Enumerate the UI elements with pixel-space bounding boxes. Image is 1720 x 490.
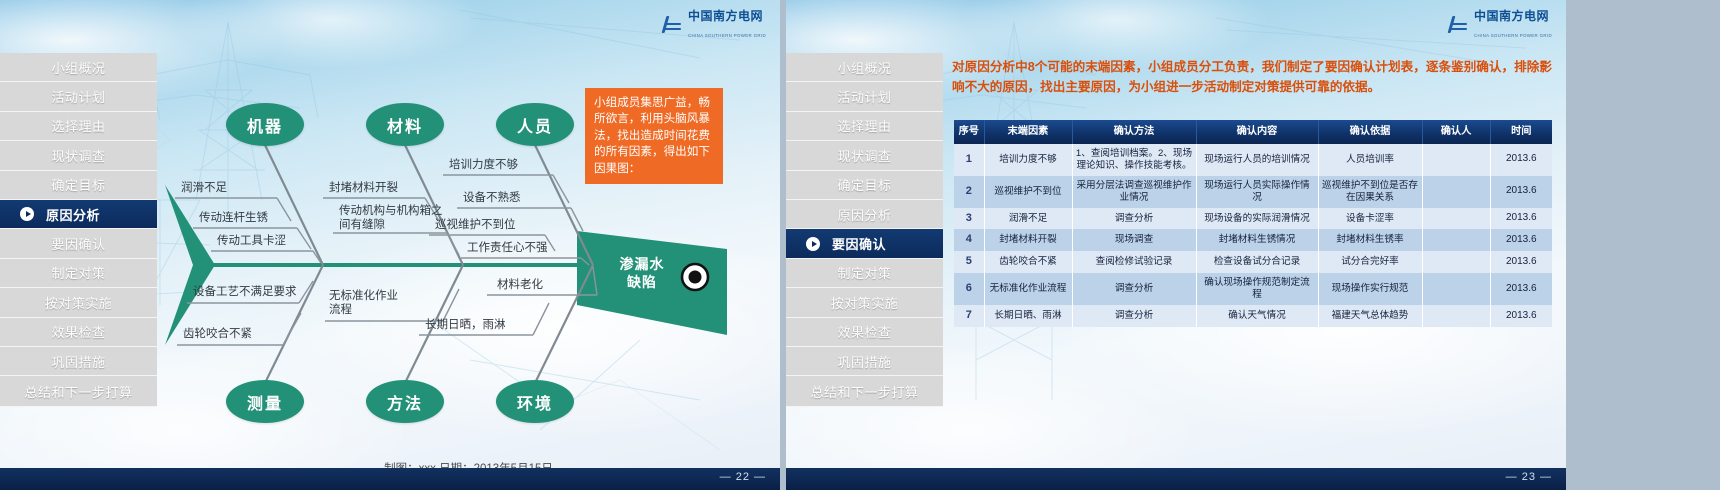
brainstorm-callout: 小组成员集思广益，畅所欲言，利用头脑风暴法，找出造成时间花费的所有因素，得出如下…	[585, 88, 723, 184]
table-cell-2-3: 现场设备的实际润滑情况	[1196, 208, 1318, 230]
logo-name-cn: 中国南方电网	[688, 9, 763, 23]
sidebar-item-2[interactable]: 选择理由	[0, 112, 157, 141]
table-cell-0-5	[1422, 144, 1490, 176]
sidebar-item-0[interactable]: 小组概况	[0, 53, 157, 82]
cause-rod-rust: 传动连杆生锈	[199, 211, 268, 225]
table-cell-5-0: 6	[954, 273, 984, 305]
play-bullet-icon	[806, 237, 820, 251]
sidebar-item-label: 原因分析	[46, 205, 100, 224]
table-cell-3-2: 现场调查	[1072, 229, 1196, 251]
table-cell-6-0: 7	[954, 305, 984, 327]
page-number: — 22 —	[720, 471, 766, 483]
logo-name-en: CHINA SOUTHERN POWER GRID	[1474, 33, 1552, 38]
table-cell-1-0: 2	[954, 176, 984, 208]
sidebar-item-8[interactable]: 按对策实施	[786, 288, 943, 317]
sidebar-item-label: 确定目标	[51, 175, 105, 194]
factor-confirmation-table: 序号末端因素确认方法确认内容确认依据确认人时间 1培训力度不够1、查阅培训档案。…	[954, 120, 1552, 327]
cause-unfamiliar-equipment: 设备不熟悉	[463, 191, 521, 205]
table-cell-1-3: 现场运行人员实际操作情况	[1196, 176, 1318, 208]
sidebar-item-6[interactable]: 要因确认	[786, 229, 943, 258]
table-cell-0-0: 1	[954, 144, 984, 176]
sidebar-item-8[interactable]: 按对策实施	[0, 288, 157, 317]
sidebar-left[interactable]: 小组概况活动计划选择理由现状调查确定目标原因分析要因确认制定对策按对策实施效果检…	[0, 53, 157, 407]
table-cell-2-1: 润滑不足	[984, 208, 1072, 230]
sidebar-item-10[interactable]: 巩固措施	[786, 347, 943, 376]
sidebar-item-label: 活动计划	[51, 87, 105, 106]
table-cell-0-1: 培训力度不够	[984, 144, 1072, 176]
table-header-cell-5: 确认人	[1422, 120, 1490, 144]
sidebar-item-label: 要因确认	[832, 234, 886, 253]
sidebar-item-6[interactable]: 要因确认	[0, 229, 157, 258]
table-row: 4封堵材料开裂现场调查封堵材料生锈情况封堵材料生锈率2013.6	[954, 229, 1552, 251]
sidebar-item-7[interactable]: 制定对策	[0, 259, 157, 288]
table-cell-4-2: 查阅检修试验记录	[1072, 251, 1196, 273]
table-cell-6-5	[1422, 305, 1490, 327]
sidebar-item-3[interactable]: 现状调查	[786, 141, 943, 170]
table-cell-0-3: 现场运行人员的培训情况	[1196, 144, 1318, 176]
sidebar-item-label: 效果检查	[51, 322, 105, 341]
cause-gear-mesh: 齿轮咬合不紧	[183, 327, 252, 341]
sidebar-item-label: 选择理由	[51, 116, 105, 135]
sidebar-item-label: 总结和下一步打算	[810, 382, 918, 401]
table-cell-2-2: 调查分析	[1072, 208, 1196, 230]
grid-logo-icon	[665, 16, 683, 34]
table-cell-5-6: 2013.6	[1490, 273, 1552, 305]
sidebar-item-label: 总结和下一步打算	[24, 382, 132, 401]
sidebar-item-label: 巩固措施	[837, 352, 891, 371]
table-cell-1-4: 巡视维护不到位是否存在因果关系	[1318, 176, 1422, 208]
sidebar-right[interactable]: 小组概况活动计划选择理由现状调查确定目标原因分析要因确认制定对策按对策实施效果检…	[786, 53, 943, 407]
sidebar-item-11[interactable]: 总结和下一步打算	[0, 376, 157, 407]
table-cell-6-1: 长期日晒、雨淋	[984, 305, 1072, 327]
table-cell-2-4: 设备卡涩率	[1318, 208, 1422, 230]
sidebar-item-9[interactable]: 效果检查	[0, 318, 157, 347]
table-header-cell-1: 末端因素	[984, 120, 1072, 144]
sidebar-item-4[interactable]: 确定目标	[786, 171, 943, 200]
table-cell-2-6: 2013.6	[1490, 208, 1552, 230]
logo-name-cn: 中国南方电网	[1474, 9, 1549, 23]
table-cell-4-6: 2013.6	[1490, 251, 1552, 273]
table-cell-5-1: 无标准化作业流程	[984, 273, 1072, 305]
cause-tool-jam: 传动工具卡涩	[217, 234, 286, 248]
table-cell-2-0: 3	[954, 208, 984, 230]
logo-southern-power-grid: 中国南方电网 CHINA SOUTHERN POWER GRID	[1451, 8, 1552, 42]
fishbone-node-environment: 环境	[496, 380, 574, 423]
table-cell-1-5	[1422, 176, 1490, 208]
slide-footer-right: — 23 —	[786, 468, 1566, 490]
slide-factor-confirmation: 小组概况活动计划选择理由现状调查确定目标原因分析要因确认制定对策按对策实施效果检…	[786, 0, 1566, 490]
sidebar-item-label: 按对策实施	[45, 293, 113, 312]
fishbone-diagram: 机器 材料 人员 测量 方法 环境 润滑不足 传动连杆生锈 传动工具卡涩 封堵材…	[157, 53, 780, 468]
sidebar-item-1[interactable]: 活动计划	[0, 82, 157, 111]
table-cell-4-0: 5	[954, 251, 984, 273]
table-cell-0-6: 2013.6	[1490, 144, 1552, 176]
fishbone-node-material: 材料	[366, 103, 444, 146]
fishbone-node-method: 方法	[366, 380, 444, 423]
table-cell-3-3: 封堵材料生锈情况	[1196, 229, 1318, 251]
table-cell-1-6: 2013.6	[1490, 176, 1552, 208]
table-row: 1培训力度不够1、查阅培训档案。2、现场理论知识、操作技能考核。现场运行人员的培…	[954, 144, 1552, 176]
table-cell-4-1: 齿轮咬合不紧	[984, 251, 1072, 273]
table-cell-1-1: 巡视维护不到位	[984, 176, 1072, 208]
table-cell-5-3: 确认现场操作规范制定流程	[1196, 273, 1318, 305]
cause-lubrication: 润滑不足	[181, 181, 227, 195]
table-cell-6-4: 福建天气总体趋势	[1318, 305, 1422, 327]
sidebar-item-7[interactable]: 制定对策	[786, 259, 943, 288]
table-cell-3-1: 封堵材料开裂	[984, 229, 1072, 251]
slide-headline: 对原因分析中8个可能的末端因素，小组成员分工负责，我们制定了要因确认计划表，逐条…	[952, 57, 1552, 97]
sidebar-item-label: 活动计划	[837, 87, 891, 106]
table-cell-5-4: 现场操作实行规范	[1318, 273, 1422, 305]
table-cell-0-4: 人员培训率	[1318, 144, 1422, 176]
fishbone-node-personnel: 人员	[496, 103, 574, 146]
sidebar-item-label: 制定对策	[51, 263, 105, 282]
table-header-cell-0: 序号	[954, 120, 984, 144]
table-cell-6-3: 确认天气情况	[1196, 305, 1318, 327]
sidebar-item-label: 小组概况	[837, 58, 891, 77]
sidebar-item-label: 原因分析	[837, 205, 891, 224]
slide-footer-left: — 22 —	[0, 468, 780, 490]
table-cell-6-6: 2013.6	[1490, 305, 1552, 327]
sidebar-item-4[interactable]: 确定目标	[0, 171, 157, 200]
play-bullet-icon	[20, 207, 34, 221]
table-row: 3润滑不足调查分析现场设备的实际润滑情况设备卡涩率2013.6	[954, 208, 1552, 230]
table-cell-3-6: 2013.6	[1490, 229, 1552, 251]
sidebar-item-label: 现状调查	[837, 146, 891, 165]
fishbone-node-measure: 测量	[226, 380, 304, 423]
logo-name-en: CHINA SOUTHERN POWER GRID	[688, 33, 766, 38]
sidebar-item-label: 小组概况	[51, 58, 105, 77]
table-cell-1-2: 采用分层法调查巡视维护作业情况	[1072, 176, 1196, 208]
cause-process-requirement: 设备工艺不满足要求	[193, 285, 297, 299]
page-number: — 23 —	[1506, 471, 1552, 483]
cause-mechanism-gap: 传动机构与机构箱之间有缝隙	[339, 204, 443, 233]
table-header-cell-2: 确认方法	[1072, 120, 1196, 144]
cause-material-aging: 材料老化	[497, 278, 543, 292]
cause-sun-rain: 长期日晒，雨淋	[425, 318, 506, 332]
table-cell-3-5	[1422, 229, 1490, 251]
slide-cause-analysis: 小组概况活动计划选择理由现状调查确定目标原因分析要因确认制定对策按对策实施效果检…	[0, 0, 780, 490]
table-cell-2-5	[1422, 208, 1490, 230]
table-cell-3-0: 4	[954, 229, 984, 251]
table-header-cell-6: 时间	[1490, 120, 1552, 144]
sidebar-item-3[interactable]: 现状调查	[0, 141, 157, 170]
table-cell-4-3: 检查设备试分合记录	[1196, 251, 1318, 273]
sidebar-item-label: 制定对策	[837, 263, 891, 282]
sidebar-item-label: 现状调查	[51, 146, 105, 165]
table-header-cell-4: 确认依据	[1318, 120, 1422, 144]
table-cell-4-4: 试分合完好率	[1318, 251, 1422, 273]
table-cell-6-2: 调查分析	[1072, 305, 1196, 327]
cause-no-standard-process: 无标准化作业流程	[329, 289, 401, 318]
effect-line-2: 缺陷	[627, 274, 657, 290]
sidebar-item-1[interactable]: 活动计划	[786, 82, 943, 111]
sidebar-item-2[interactable]: 选择理由	[786, 112, 943, 141]
effect-line-1: 渗漏水	[620, 256, 665, 272]
table-row: 2巡视维护不到位采用分层法调查巡视维护作业情况现场运行人员实际操作情况巡视维护不…	[954, 176, 1552, 208]
table-row: 6无标准化作业流程调查分析确认现场操作规范制定流程现场操作实行规范2013.6	[954, 273, 1552, 305]
cause-responsibility: 工作责任心不强	[467, 241, 548, 255]
grid-logo-icon	[1451, 16, 1469, 34]
table-cell-5-2: 调查分析	[1072, 273, 1196, 305]
cause-patrol-maintenance: 巡视维护不到位	[435, 218, 516, 232]
sidebar-item-label: 巩固措施	[51, 352, 105, 371]
logo-southern-power-grid: 中国南方电网 CHINA SOUTHERN POWER GRID	[665, 8, 766, 42]
sidebar-item-5[interactable]: 原因分析	[786, 200, 943, 229]
table-cell-5-5	[1422, 273, 1490, 305]
sidebar-item-0[interactable]: 小组概况	[786, 53, 943, 82]
cause-sealing-crack: 封堵材料开裂	[329, 181, 398, 195]
table-cell-4-5	[1422, 251, 1490, 273]
table-row: 5齿轮咬合不紧查阅检修试验记录检查设备试分合记录试分合完好率2013.6	[954, 251, 1552, 273]
sidebar-item-11[interactable]: 总结和下一步打算	[786, 376, 943, 407]
fishbone-node-machine: 机器	[226, 103, 304, 146]
table-cell-3-4: 封堵材料生锈率	[1318, 229, 1422, 251]
sidebar-item-label: 效果检查	[837, 322, 891, 341]
table-header-row: 序号末端因素确认方法确认内容确认依据确认人时间	[954, 120, 1552, 144]
sidebar-item-label: 按对策实施	[831, 293, 899, 312]
sidebar-item-9[interactable]: 效果检查	[786, 318, 943, 347]
table-cell-0-2: 1、查阅培训档案。2、现场理论知识、操作技能考核。	[1072, 144, 1196, 176]
sidebar-item-label: 选择理由	[837, 116, 891, 135]
table-row: 7长期日晒、雨淋调查分析确认天气情况福建天气总体趋势2013.6	[954, 305, 1552, 327]
cause-training: 培训力度不够	[449, 158, 518, 172]
sidebar-item-10[interactable]: 巩固措施	[0, 347, 157, 376]
sidebar-item-5[interactable]: 原因分析	[0, 200, 157, 229]
slides-container: 小组概况活动计划选择理由现状调查确定目标原因分析要因确认制定对策按对策实施效果检…	[0, 0, 1720, 490]
sidebar-item-label: 确定目标	[837, 175, 891, 194]
table-header-cell-3: 确认内容	[1196, 120, 1318, 144]
fishbone-effect-label: 渗漏水 缺陷	[597, 255, 687, 291]
sidebar-item-label: 要因确认	[51, 234, 105, 253]
